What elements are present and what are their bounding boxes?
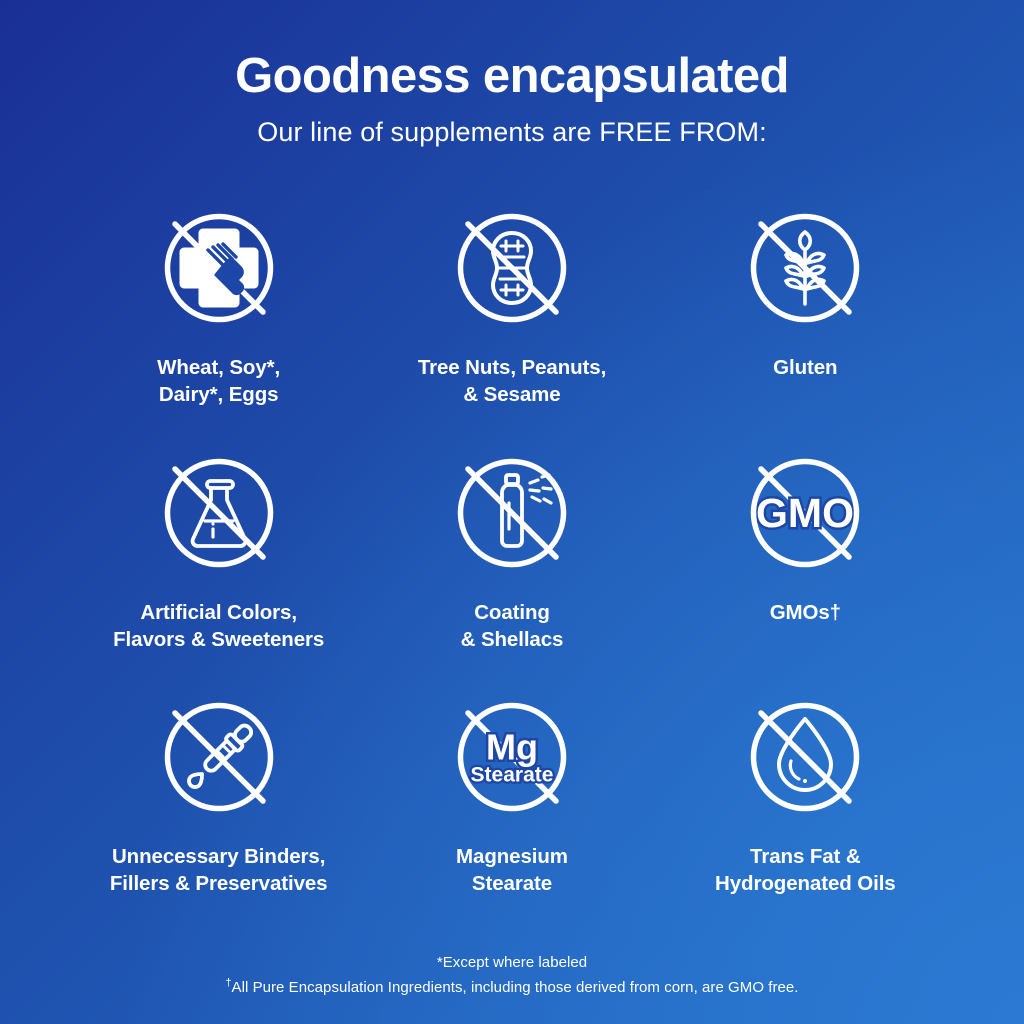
no-dropper-icon [151, 689, 287, 825]
badge-label: Trans Fat & Hydrogenated Oils [715, 843, 896, 898]
no-flask-icon [151, 445, 287, 581]
badge-label: Gluten [773, 354, 837, 381]
badge-unnecessary-binders-fillers-preservatives: Unnecessary Binders, Fillers & Preservat… [72, 689, 365, 898]
no-spray-can-icon [444, 445, 580, 581]
no-oil-droplet-icon [737, 689, 873, 825]
badge-label: GMOs† [770, 599, 841, 626]
footnotes: *Except where labeled †All Pure Encapsul… [0, 951, 1024, 1000]
no-allergens-cross-fork-icon [151, 200, 287, 336]
page-subtitle: Our line of supplements are FREE FROM: [0, 117, 1024, 148]
stearate-icon-text: Stearate [471, 764, 554, 787]
badge-wheat-soy-dairy-eggs: Wheat, Soy*, Dairy*, Eggs [72, 200, 365, 409]
page-title: Goodness encapsulated [0, 50, 1024, 103]
badge-label: Magnesium Stearate [456, 843, 568, 898]
no-peanut-icon [444, 200, 580, 336]
no-wheat-stalk-icon [737, 200, 873, 336]
badge-coating-shellacs: Coating & Shellacs [365, 445, 658, 654]
gmo-icon-text: GMO [756, 490, 854, 536]
header: Goodness encapsulated Our line of supple… [0, 0, 1024, 148]
footnote-dagger: †All Pure Encapsulation Ingredients, inc… [0, 976, 1024, 1000]
badge-gmos: GMO GMOs† [659, 445, 952, 654]
badge-artificial-colors-flavors-sweeteners: Artificial Colors, Flavors & Sweeteners [72, 445, 365, 654]
no-gmo-icon: GMO [737, 445, 873, 581]
badge-label: Tree Nuts, Peanuts, & Sesame [418, 354, 606, 409]
footnote-asterisk: *Except where labeled [0, 951, 1024, 975]
badge-label: Unnecessary Binders, Fillers & Preservat… [110, 843, 328, 898]
badge-grid: Wheat, Soy*, Dairy*, Eggs Tree Nuts, Pea… [72, 200, 952, 898]
badge-label: Coating & Shellacs [461, 599, 564, 654]
free-from-infographic: Goodness encapsulated Our line of supple… [0, 0, 1024, 1024]
badge-label: Artificial Colors, Flavors & Sweeteners [113, 599, 324, 654]
badge-tree-nuts-peanuts-sesame: Tree Nuts, Peanuts, & Sesame [365, 200, 658, 409]
badge-gluten: Gluten [659, 200, 952, 409]
mg-icon-text: Mg [486, 727, 538, 768]
no-magnesium-stearate-icon: Mg Stearate [444, 689, 580, 825]
footnote-dagger-text: All Pure Encapsulation Ingredients, incl… [232, 979, 799, 996]
badge-magnesium-stearate: Mg Stearate Magnesium Stearate [365, 689, 658, 898]
badge-label: Wheat, Soy*, Dairy*, Eggs [157, 354, 280, 409]
badge-trans-fat-hydrogenated-oils: Trans Fat & Hydrogenated Oils [659, 689, 952, 898]
